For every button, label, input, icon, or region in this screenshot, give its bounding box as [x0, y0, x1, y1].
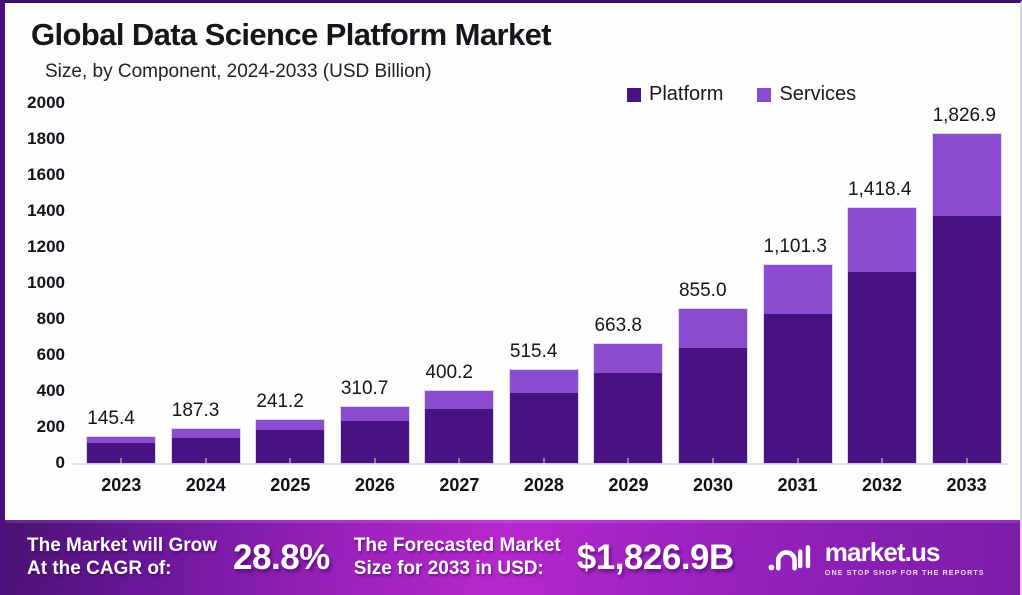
- y-axis: 2000180016001400120010008006004002000: [5, 103, 71, 463]
- brand-name: market.us: [825, 539, 940, 565]
- bar-segment-platform[interactable]: [341, 421, 409, 463]
- legend-swatch-platform: [627, 88, 641, 102]
- bar-segment-services[interactable]: [256, 420, 324, 431]
- y-tick-label: 1600: [27, 165, 65, 185]
- bar-series-group: 145.4187.3241.2310.7400.2515.4663.8855.0…: [79, 103, 1009, 463]
- x-tick-label: 2024: [164, 475, 248, 496]
- bar-value-label: 145.4: [87, 408, 135, 430]
- bar-segment-platform[interactable]: [933, 216, 1001, 463]
- bar-slot: 241.2: [248, 103, 332, 463]
- x-axis-baseline: [73, 463, 1009, 465]
- bar-value-label: 1,826.9: [933, 105, 996, 127]
- bar-value-label: 187.3: [172, 400, 220, 422]
- stacked-bar[interactable]: 855.0: [679, 309, 747, 463]
- bar-segment-services[interactable]: [679, 309, 747, 347]
- axis-tick-mark: [882, 458, 883, 465]
- bar-value-label: 400.2: [425, 362, 473, 384]
- bar-value-label: 241.2: [256, 391, 304, 413]
- cagr-value: 28.8%: [233, 538, 330, 578]
- x-tick-label: 2030: [671, 475, 755, 496]
- y-tick-label: 2000: [27, 93, 65, 113]
- bar-value-label: 855.0: [679, 280, 727, 302]
- brand-logo[interactable]: market.us ONE STOP SHOP FOR THE REPORTS: [768, 539, 985, 577]
- y-tick-label: 400: [37, 381, 65, 401]
- market-us-logo-icon: [768, 541, 816, 575]
- axis-tick-mark: [459, 458, 460, 465]
- bar-slot: 1,826.9: [925, 103, 1009, 463]
- brand-tagline: ONE STOP SHOP FOR THE REPORTS: [825, 568, 985, 577]
- cagr-caption-line2: At the CAGR of:: [27, 558, 217, 580]
- y-tick-label: 1400: [27, 201, 65, 221]
- stacked-bar[interactable]: 1,826.9: [933, 134, 1001, 463]
- x-axis-labels: 2023202420252026202720282029203020312032…: [79, 475, 1009, 496]
- x-tick-label: 2026: [333, 475, 417, 496]
- cagr-caption-line1: The Market will Grow: [27, 535, 217, 557]
- bar-value-label: 1,418.4: [848, 179, 911, 201]
- chart-title: Global Data Science Platform Market: [31, 17, 551, 53]
- stacked-bar[interactable]: 1,418.4: [848, 208, 916, 463]
- bar-slot: 515.4: [502, 103, 586, 463]
- bar-slot: 1,418.4: [840, 103, 924, 463]
- axis-tick-mark: [121, 458, 122, 465]
- brand-wordmark: market.us ONE STOP SHOP FOR THE REPORTS: [825, 539, 985, 577]
- bar-segment-services[interactable]: [341, 407, 409, 421]
- bar-segment-platform[interactable]: [679, 348, 747, 463]
- bar-slot: 310.7: [333, 103, 417, 463]
- x-tick-label: 2023: [79, 475, 163, 496]
- forecast-caption-line1: The Forecasted Market: [354, 535, 561, 557]
- bar-segment-services[interactable]: [425, 391, 493, 409]
- axis-tick-mark: [966, 458, 967, 465]
- bar-segment-services[interactable]: [510, 370, 578, 393]
- bar-value-label: 1,101.3: [764, 236, 827, 258]
- y-tick-label: 1200: [27, 237, 65, 257]
- bar-slot: 145.4: [79, 103, 163, 463]
- y-tick-label: 600: [37, 345, 65, 365]
- bar-segment-services[interactable]: [764, 265, 832, 315]
- bar-value-label: 515.4: [510, 341, 558, 363]
- footer-banner: The Market will Grow At the CAGR of: 28.…: [5, 520, 1022, 595]
- x-tick-label: 2025: [248, 475, 332, 496]
- x-tick-label: 2033: [925, 475, 1009, 496]
- y-tick-label: 1800: [27, 129, 65, 149]
- bar-value-label: 310.7: [341, 378, 389, 400]
- axis-tick-mark: [290, 458, 291, 465]
- axis-tick-mark: [374, 458, 375, 465]
- axis-tick-mark: [543, 458, 544, 465]
- axis-tick-mark: [628, 458, 629, 465]
- chart-infographic: Global Data Science Platform Market Size…: [0, 0, 1022, 595]
- bar-segment-services[interactable]: [933, 134, 1001, 216]
- cagr-caption: The Market will Grow At the CAGR of:: [27, 535, 217, 579]
- bar-slot: 1,101.3: [756, 103, 840, 463]
- stacked-bar[interactable]: 241.2: [256, 420, 324, 463]
- bar-segment-platform[interactable]: [510, 393, 578, 463]
- y-tick-label: 0: [56, 453, 65, 473]
- stacked-bar[interactable]: 310.7: [341, 407, 409, 463]
- stacked-bar[interactable]: 400.2: [425, 391, 493, 463]
- forecast-value: $1,826.9B: [577, 538, 734, 578]
- forecast-caption: The Forecasted Market Size for 2033 in U…: [354, 535, 561, 579]
- bar-segment-services[interactable]: [172, 429, 240, 437]
- forecast-caption-line2: Size for 2033 in USD:: [354, 558, 561, 580]
- chart-subtitle: Size, by Component, 2024-2033 (USD Billi…: [45, 61, 432, 83]
- stacked-bar[interactable]: 515.4: [510, 370, 578, 463]
- stacked-bar[interactable]: 1,101.3: [764, 265, 832, 463]
- y-tick-label: 800: [37, 309, 65, 329]
- bar-segment-platform[interactable]: [594, 373, 662, 463]
- bar-segment-services[interactable]: [848, 208, 916, 272]
- bar-segment-services[interactable]: [594, 344, 662, 374]
- axis-tick-mark: [797, 458, 798, 465]
- axis-tick-mark: [712, 458, 713, 465]
- bar-slot: 187.3: [164, 103, 248, 463]
- x-tick-label: 2027: [417, 475, 501, 496]
- bar-segment-platform[interactable]: [425, 409, 493, 463]
- axis-tick-mark: [205, 458, 206, 465]
- x-tick-label: 2031: [756, 475, 840, 496]
- y-tick-label: 1000: [27, 273, 65, 293]
- bar-value-label: 663.8: [594, 315, 642, 337]
- x-tick-label: 2028: [502, 475, 586, 496]
- bar-segment-platform[interactable]: [764, 314, 832, 463]
- bar-slot: 855.0: [671, 103, 755, 463]
- x-tick-label: 2032: [840, 475, 924, 496]
- bar-slot: 663.8: [586, 103, 670, 463]
- x-tick-label: 2029: [586, 475, 670, 496]
- stacked-bar[interactable]: 663.8: [594, 344, 662, 463]
- bar-slot: 400.2: [417, 103, 501, 463]
- legend-swatch-services: [757, 88, 771, 102]
- y-tick-label: 200: [37, 417, 65, 437]
- bar-segment-platform[interactable]: [848, 272, 916, 463]
